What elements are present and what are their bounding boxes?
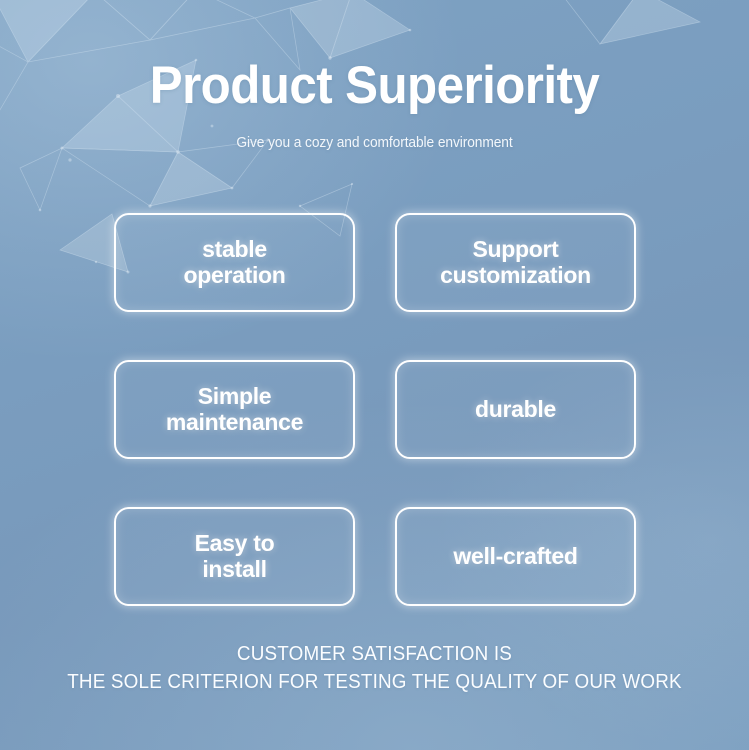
feature-card-label: durable [475,397,556,423]
feature-card-label: Simple maintenance [166,384,303,436]
feature-card-label: Support customization [440,237,591,289]
product-superiority-banner: Product Superiority Give you a cozy and … [0,0,749,750]
feature-grid: stable operation Support customization S… [114,213,636,606]
feature-card-simple-maintenance[interactable]: Simple maintenance [114,360,355,459]
feature-card-label: Easy to install [195,531,275,583]
feature-card-label: stable operation [183,237,285,289]
feature-card-label: well-crafted [453,544,577,570]
banner-header: Product Superiority Give you a cozy and … [0,58,749,151]
page-title: Product Superiority [26,58,723,114]
feature-card-stable-operation[interactable]: stable operation [114,213,355,312]
feature-card-well-crafted[interactable]: well-crafted [395,507,636,606]
footer-line-2: THE SOLE CRITERION FOR TESTING THE QUALI… [30,668,719,696]
footer-line-1: CUSTOMER SATISFACTION IS [30,640,719,668]
feature-card-easy-to-install[interactable]: Easy to install [114,507,355,606]
feature-card-durable[interactable]: durable [395,360,636,459]
page-subtitle: Give you a cozy and comfortable environm… [19,135,731,151]
feature-card-support-customization[interactable]: Support customization [395,213,636,312]
banner-footer: CUSTOMER SATISFACTION IS THE SOLE CRITER… [0,640,749,697]
